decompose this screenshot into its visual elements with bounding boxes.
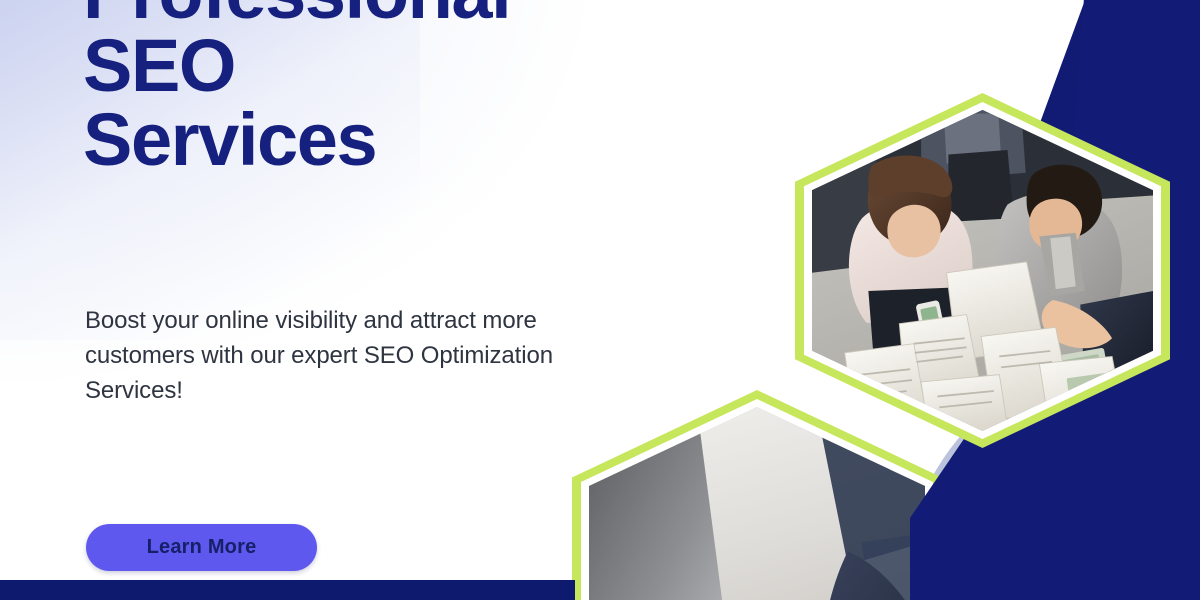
team-meeting-image <box>812 110 1153 431</box>
seo-services-banner: Professional SEO Services Boost your onl… <box>0 0 1200 600</box>
hero-text-column: Professional SEO Services Boost your onl… <box>83 0 683 600</box>
learn-more-button[interactable]: Learn More <box>86 524 317 571</box>
page-title: Professional SEO Services <box>83 0 723 176</box>
hero-subcopy: Boost your online visibility and attract… <box>85 303 620 408</box>
hexagon-white-ring <box>804 102 1161 439</box>
